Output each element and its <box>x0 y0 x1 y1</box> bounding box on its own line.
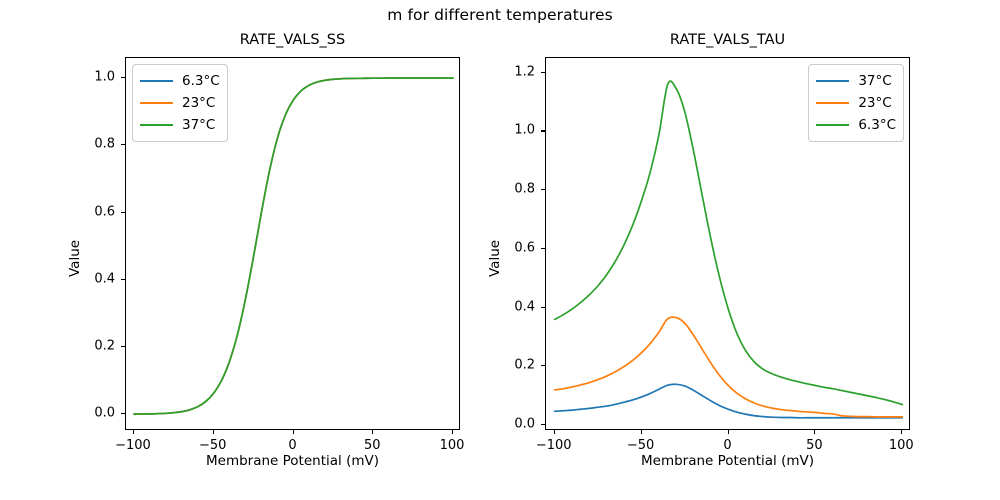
y-tick-label: 0.6 <box>77 204 115 219</box>
legend-label: 23°C <box>182 95 215 111</box>
y-tick-mark <box>541 307 545 308</box>
y-tick-mark <box>121 77 125 78</box>
x-tick-mark <box>293 430 294 434</box>
x-tick-mark <box>554 430 555 434</box>
legend-label: 37°C <box>182 117 215 133</box>
x-tick-label: 0 <box>288 438 296 453</box>
legend-label: 6.3°C <box>182 73 220 89</box>
y-tick-mark <box>121 413 125 414</box>
legend-entry[interactable]: 23°C <box>140 92 220 114</box>
legend-color-swatch <box>140 102 173 104</box>
legend-entry[interactable]: 6.3°C <box>816 114 896 136</box>
ylabel-tau: Value <box>487 240 503 277</box>
legend-color-swatch <box>140 124 173 126</box>
x-tick-mark <box>728 430 729 434</box>
x-tick-label: −50 <box>627 438 654 453</box>
legend-label: 23°C <box>858 95 891 111</box>
x-tick-mark <box>814 430 815 434</box>
y-tick-label: 0.0 <box>77 406 115 421</box>
y-tick-mark <box>121 279 125 280</box>
y-tick-label: 1.0 <box>497 123 535 138</box>
y-tick-label: 1.0 <box>77 70 115 85</box>
x-tick-label: −100 <box>115 438 151 453</box>
legend-color-swatch <box>816 124 849 126</box>
y-tick-mark <box>541 424 545 425</box>
legend-tau[interactable]: 37°C23°C6.3°C <box>808 64 904 142</box>
axes-rate-vals-tau: RATE_VALS_TAU −100−500501000.00.20.40.60… <box>545 57 910 430</box>
x-tick-mark <box>901 430 902 434</box>
subplot-title-ss: RATE_VALS_SS <box>125 32 460 48</box>
x-tick-mark <box>452 430 453 434</box>
x-tick-label: 50 <box>364 438 381 453</box>
xlabel-ss: Membrane Potential (mV) <box>125 453 460 469</box>
legend-entry[interactable]: 37°C <box>816 70 896 92</box>
series-line <box>555 317 903 417</box>
y-tick-mark <box>541 248 545 249</box>
xlabel-tau: Membrane Potential (mV) <box>545 453 910 469</box>
y-tick-mark <box>121 144 125 145</box>
x-tick-mark <box>641 430 642 434</box>
x-tick-label: −50 <box>199 438 226 453</box>
y-tick-label: 0.2 <box>77 338 115 353</box>
x-tick-label: 100 <box>440 438 465 453</box>
legend-color-swatch <box>140 80 173 82</box>
figure-canvas: m for different temperatures RATE_VALS_S… <box>0 0 1000 500</box>
x-tick-mark <box>372 430 373 434</box>
series-line <box>555 384 903 418</box>
y-tick-mark <box>121 212 125 213</box>
x-tick-mark <box>133 430 134 434</box>
x-tick-label: 0 <box>723 438 731 453</box>
y-tick-label: 0.8 <box>77 137 115 152</box>
legend-label: 6.3°C <box>858 117 896 133</box>
ylabel-ss: Value <box>67 240 83 277</box>
y-tick-mark <box>121 346 125 347</box>
y-tick-label: 0.8 <box>497 182 535 197</box>
legend-label: 37°C <box>858 73 891 89</box>
legend-color-swatch <box>816 102 849 104</box>
y-tick-label: 0.2 <box>497 358 535 373</box>
legend-entry[interactable]: 37°C <box>140 114 220 136</box>
x-tick-label: −100 <box>536 438 572 453</box>
legend-entry[interactable]: 6.3°C <box>140 70 220 92</box>
y-tick-label: 0.4 <box>497 299 535 314</box>
x-tick-label: 100 <box>889 438 914 453</box>
x-tick-label: 50 <box>806 438 823 453</box>
y-tick-label: 0.0 <box>497 417 535 432</box>
subplot-title-tau: RATE_VALS_TAU <box>545 32 910 48</box>
y-tick-mark <box>541 72 545 73</box>
legend-ss[interactable]: 6.3°C23°C37°C <box>132 64 228 142</box>
y-tick-mark <box>541 189 545 190</box>
y-tick-mark <box>541 130 545 131</box>
axes-rate-vals-ss: RATE_VALS_SS −100−500501000.00.20.40.60.… <box>125 57 460 430</box>
figure-suptitle: m for different temperatures <box>0 6 1000 24</box>
x-tick-mark <box>213 430 214 434</box>
legend-entry[interactable]: 23°C <box>816 92 896 114</box>
legend-color-swatch <box>816 80 849 82</box>
y-tick-mark <box>541 365 545 366</box>
y-tick-label: 1.2 <box>497 64 535 79</box>
